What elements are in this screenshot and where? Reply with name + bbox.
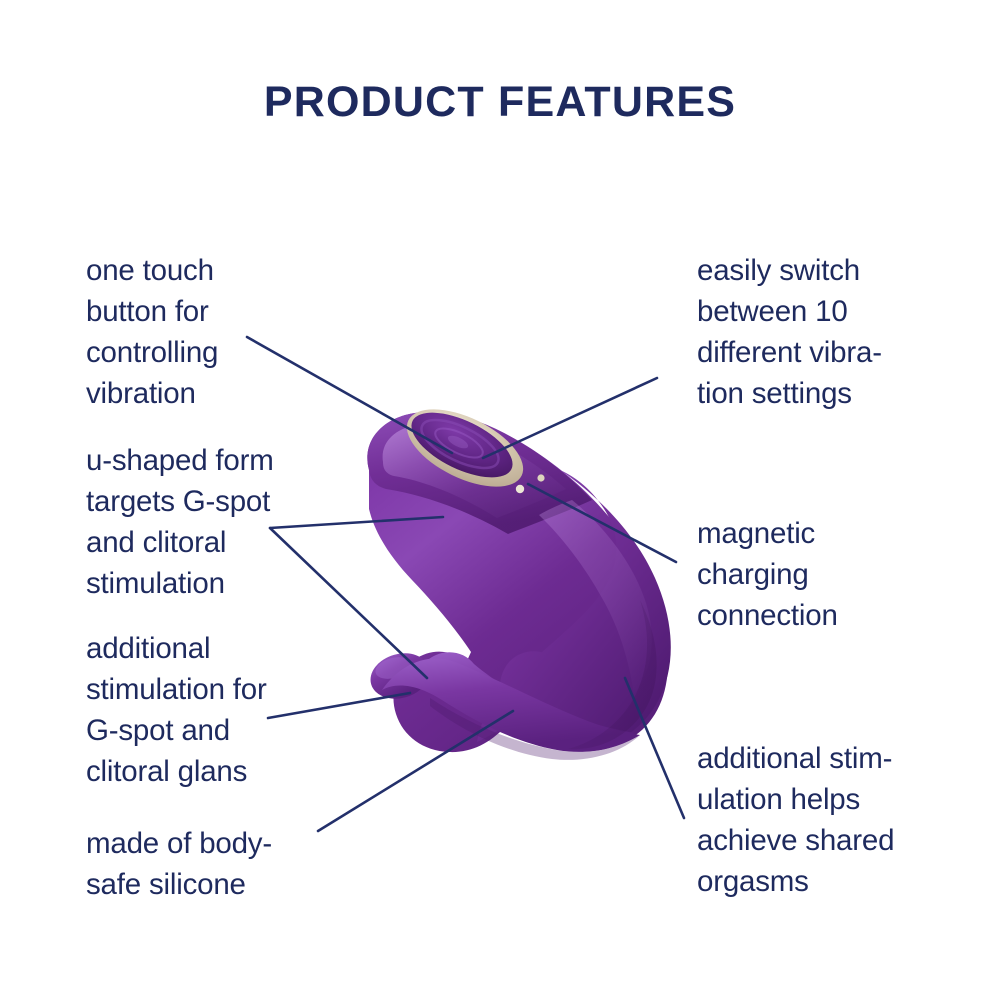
callout-shared-orgasms: additional stim- ulation helps achieve s…	[697, 738, 894, 902]
callout-vibration-settings: easily switch between 10 different vibra…	[697, 250, 882, 414]
callout-additional-stimulation: additional stimulation for G-spot and cl…	[86, 628, 267, 792]
product-body	[365, 393, 671, 760]
product-features-infographic: PRODUCT FEATURES	[0, 0, 1000, 1000]
leader-line-switch	[483, 378, 657, 458]
leader-line-additional	[268, 693, 410, 718]
callout-magnetic-charging: magnetic charging connection	[697, 513, 838, 636]
callout-body-safe-silicone: made of body- safe silicone	[86, 823, 272, 905]
leader-line-one-touch	[247, 337, 452, 453]
callout-one-touch-button: one touch button for controlling vibrati…	[86, 250, 218, 414]
charging-pin-2	[537, 474, 544, 481]
callout-u-shaped-form: u-shaped form targets G-spot and clitora…	[86, 440, 274, 604]
charging-pin-1	[516, 485, 524, 493]
